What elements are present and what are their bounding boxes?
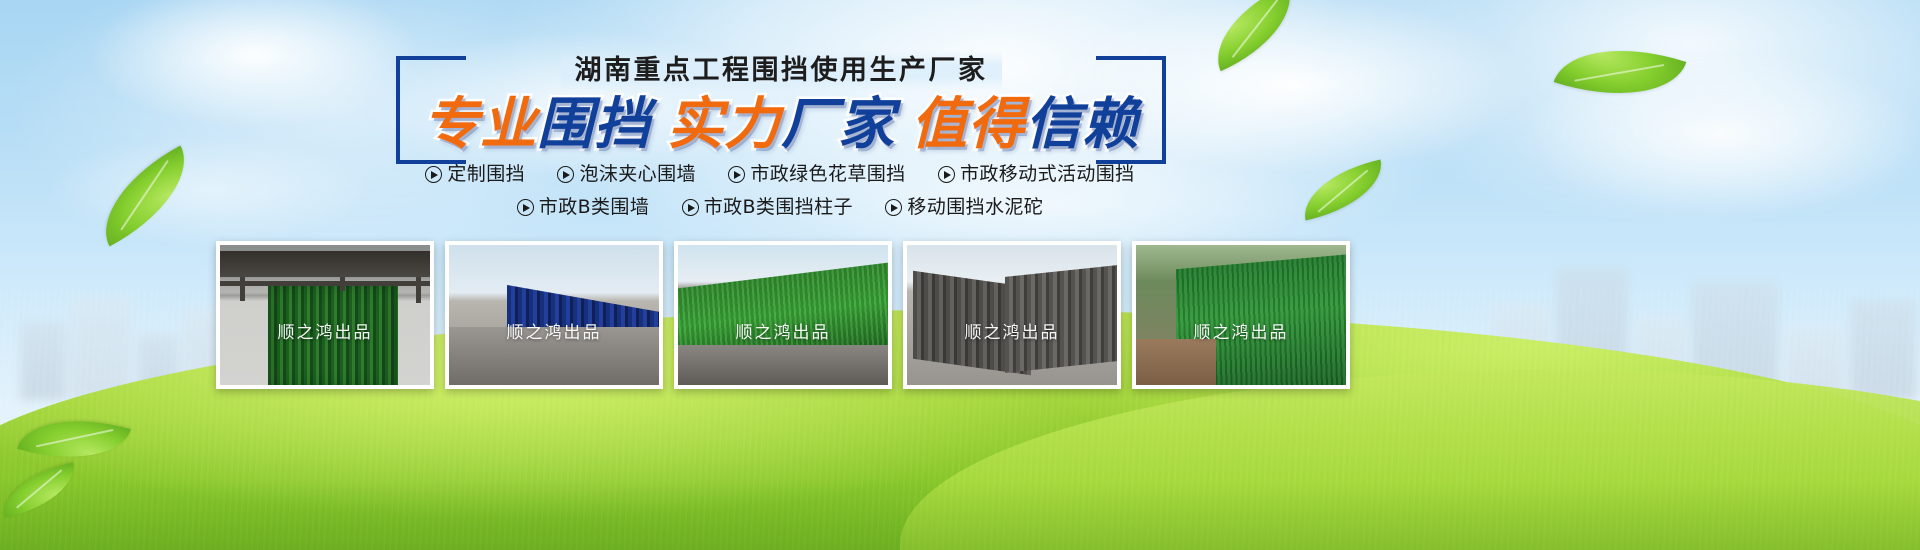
photo-thumbnail-4[interactable]: 顺之鸿出品	[903, 241, 1121, 389]
photo-scene	[1136, 245, 1346, 385]
photo-strip: 顺之鸿出品 顺之鸿出品 顺之鸿出品 顺之鸿出品 顺之鸿出品	[216, 241, 1352, 389]
play-icon	[938, 166, 955, 183]
feature-label: 泡沫夹心围墙	[579, 160, 695, 189]
banner-headline: 专业围挡 实力厂家 值得信赖	[362, 92, 1200, 158]
feature-item-b-wall[interactable]: 市政B类围墙	[517, 193, 649, 222]
grass-shadow	[0, 480, 1920, 550]
feature-item-green-flower[interactable]: 市政绿色花草围挡	[728, 160, 905, 189]
headline-seg-6: 信赖	[1025, 92, 1139, 158]
headline-seg-4: 厂家	[781, 92, 895, 158]
photo-scene	[220, 245, 430, 385]
play-icon	[682, 199, 699, 216]
photo-thumbnail-3[interactable]: 顺之鸿出品	[674, 241, 892, 389]
feature-row-1: 定制围挡 泡沫夹心围墙 市政绿色花草围挡 市政移动式活动围挡	[360, 160, 1200, 193]
feature-label: 移动围挡水泥砣	[907, 193, 1043, 222]
promo-banner: 湖南重点工程围挡使用生产厂家 专业围挡 实力厂家 值得信赖 定制围挡 泡沫夹心围…	[0, 0, 1920, 550]
headline-seg-5: 值得	[911, 92, 1025, 158]
feature-label: 市政B类围墙	[539, 193, 649, 222]
feature-label: 市政绿色花草围挡	[750, 160, 905, 189]
feature-row-2: 市政B类围墙 市政B类围挡柱子 移动围挡水泥砣	[360, 193, 1200, 226]
photo-thumbnail-1[interactable]: 顺之鸿出品	[216, 241, 434, 389]
feature-list: 定制围挡 泡沫夹心围墙 市政绿色花草围挡 市政移动式活动围挡 市政B类围墙	[360, 160, 1200, 226]
photo-scene	[678, 245, 888, 385]
play-icon	[517, 199, 534, 216]
headline-space-1	[651, 92, 667, 158]
feature-label: 定制围挡	[447, 160, 525, 189]
headline-seg-3: 实力	[667, 92, 781, 158]
feature-item-b-post[interactable]: 市政B类围挡柱子	[682, 193, 853, 222]
feature-label: 市政B类围挡柱子	[704, 193, 853, 222]
banner-subtitle: 湖南重点工程围挡使用生产厂家	[396, 51, 1166, 91]
feature-item-foam-wall[interactable]: 泡沫夹心围墙	[557, 160, 695, 189]
headline-block: 湖南重点工程围挡使用生产厂家 专业围挡 实力厂家 值得信赖	[396, 56, 1166, 164]
feature-item-movable[interactable]: 市政移动式活动围挡	[938, 160, 1135, 189]
feature-label: 市政移动式活动围挡	[960, 160, 1135, 189]
photo-thumbnail-2[interactable]: 顺之鸿出品	[445, 241, 663, 389]
play-icon	[425, 166, 442, 183]
photo-scene	[449, 245, 659, 385]
play-icon	[885, 199, 902, 216]
photo-scene	[907, 245, 1117, 385]
headline-seg-1: 专业	[423, 92, 537, 158]
headline-seg-2: 围挡	[537, 92, 651, 158]
banner-subtitle-text: 湖南重点工程围挡使用生产厂家	[561, 51, 1002, 91]
play-icon	[728, 166, 745, 183]
feature-item-cement-base[interactable]: 移动围挡水泥砣	[885, 193, 1043, 222]
play-icon	[557, 166, 574, 183]
photo-thumbnail-5[interactable]: 顺之鸿出品	[1132, 241, 1350, 389]
feature-item-custom[interactable]: 定制围挡	[425, 160, 525, 189]
headline-space-2	[895, 92, 911, 158]
